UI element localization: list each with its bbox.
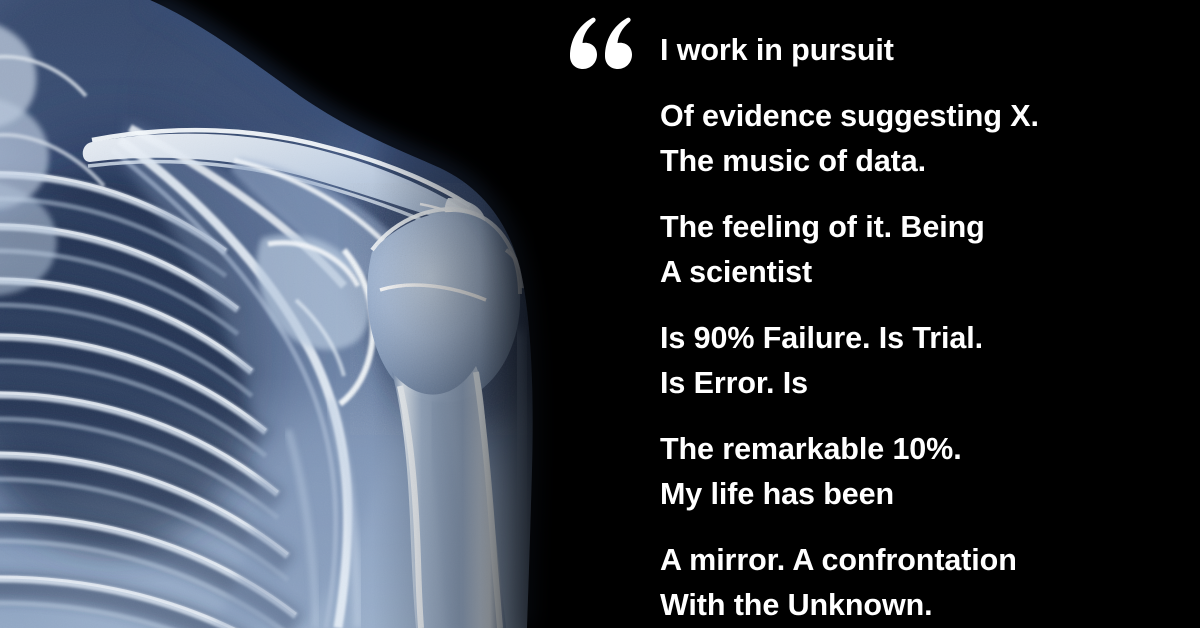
quote-line: My life has been xyxy=(660,472,1190,517)
quote-stanza: The remarkable 10%. My life has been xyxy=(660,427,1190,517)
quote-line: With the Unknown. xyxy=(660,583,1190,628)
quote-line: The feeling of it. Being xyxy=(660,205,1190,250)
right-edge-fade xyxy=(0,0,600,628)
quote-line: A scientist xyxy=(660,250,1190,295)
quote-stanza: The feeling of it. Being A scientist xyxy=(660,205,1190,295)
shoulder-xray-image xyxy=(0,0,600,628)
quote-stanza: Is 90% Failure. Is Trial. Is Error. Is xyxy=(660,316,1190,406)
quote-stanza: A mirror. A confrontation With the Unkno… xyxy=(660,538,1190,628)
quote-card: I work in pursuit Of evidence suggesting… xyxy=(0,0,1200,628)
quote-line: A mirror. A confrontation xyxy=(660,538,1190,583)
xray-graphic xyxy=(0,0,600,628)
quote-line: Of evidence suggesting X. xyxy=(660,94,1190,139)
quote-line: The remarkable 10%. xyxy=(660,427,1190,472)
quote-stanza: Of evidence suggesting X. The music of d… xyxy=(660,94,1190,184)
quote-line: I work in pursuit xyxy=(660,28,1190,73)
quote-line: Is Error. Is xyxy=(660,361,1190,406)
quote-text-block: I work in pursuit Of evidence suggesting… xyxy=(660,28,1190,628)
quote-line: The music of data. xyxy=(660,139,1190,184)
quote-stanza: I work in pursuit xyxy=(660,28,1190,73)
opening-double-quote-icon xyxy=(564,16,644,78)
quote-panel: I work in pursuit Of evidence suggesting… xyxy=(540,0,1200,628)
quote-line: Is 90% Failure. Is Trial. xyxy=(660,316,1190,361)
